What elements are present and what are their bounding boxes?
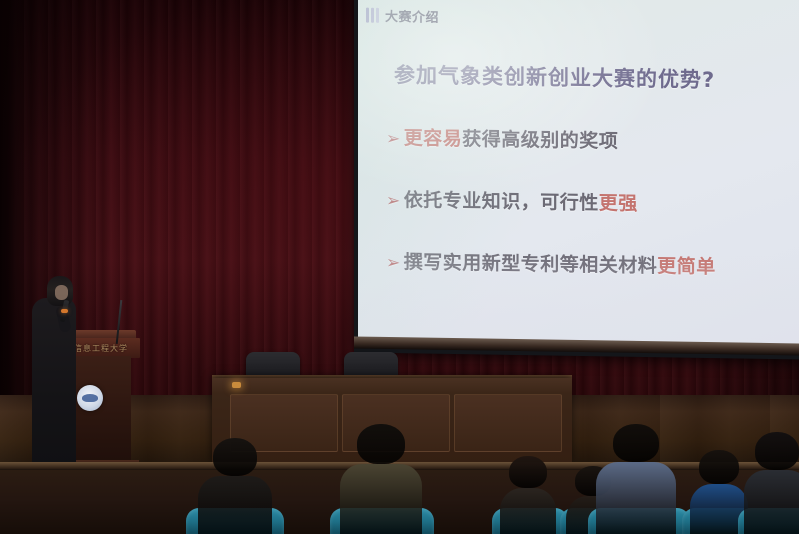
audience-torso: [744, 470, 799, 534]
audience-head: [509, 456, 547, 488]
bullet-1-emphasis: 更容易: [404, 127, 463, 150]
bullet-arrow-icon: ➢: [386, 193, 401, 210]
presentation-slide: 大赛介绍 参加气象类创新创业大赛的优势? ➢ 更容易获得高级别的奖项 ➢ 依托专…: [358, 0, 799, 351]
speaker-face: [55, 285, 68, 300]
slide-bullet-1: ➢ 更容易获得高级别的奖项: [386, 123, 786, 156]
slide-header-label: 大赛介绍: [385, 6, 439, 26]
microphone-indicator-band: [61, 309, 68, 313]
bullet-arrow-icon: ➢: [386, 255, 401, 272]
audience-torso: [500, 488, 556, 534]
audience-torso: [340, 464, 422, 534]
slide-header: 大赛介绍: [366, 6, 439, 26]
slide-title: 参加气象类创新创业大赛的优势?: [394, 59, 715, 94]
table-lamp-glow: [232, 382, 241, 388]
audience-head: [357, 424, 405, 464]
audience-member-3: [500, 418, 556, 534]
audience-torso: [198, 476, 272, 534]
curtain-left-shadow: [0, 0, 26, 420]
audience-member-1: [198, 412, 272, 534]
lecture-hall-photo: 大赛介绍 参加气象类创新创业大赛的优势? ➢ 更容易获得高级别的奖项 ➢ 依托专…: [0, 0, 799, 534]
audience-head: [699, 450, 739, 484]
bullet-3-emphasis: 更简单: [657, 255, 716, 278]
slide-bullet-2: ➢ 依托专业知识，可行性更强: [386, 185, 786, 218]
audience-member-2: [340, 410, 422, 534]
bullet-arrow-icon: ➢: [386, 131, 401, 148]
slide-header-bars-icon: [366, 8, 379, 23]
audience-member-5: [596, 412, 676, 534]
slide-bullet-3: ➢ 撰写实用新型专利等相关材料更简单: [386, 247, 786, 280]
university-emblem-icon: [77, 385, 103, 411]
audience-head: [755, 432, 799, 470]
audience-head: [213, 438, 257, 476]
audience-member-7: [744, 412, 799, 534]
audience-head: [613, 424, 659, 462]
projection-screen: 大赛介绍 参加气象类创新创业大赛的优势? ➢ 更容易获得高级别的奖项 ➢ 依托专…: [358, 0, 799, 351]
bullet-2-lead: 依托专业知识，可行性: [404, 189, 599, 214]
bullet-3-lead: 撰写实用新型专利等相关材料: [404, 251, 658, 277]
bullet-2-emphasis: 更强: [599, 192, 638, 215]
slide-bullet-list: ➢ 更容易获得高级别的奖项 ➢ 依托专业知识，可行性更强 ➢ 撰写实用新型专利等…: [386, 123, 786, 315]
bullet-1-rest: 获得高级别的奖项: [462, 128, 618, 152]
audience-torso: [596, 462, 676, 534]
